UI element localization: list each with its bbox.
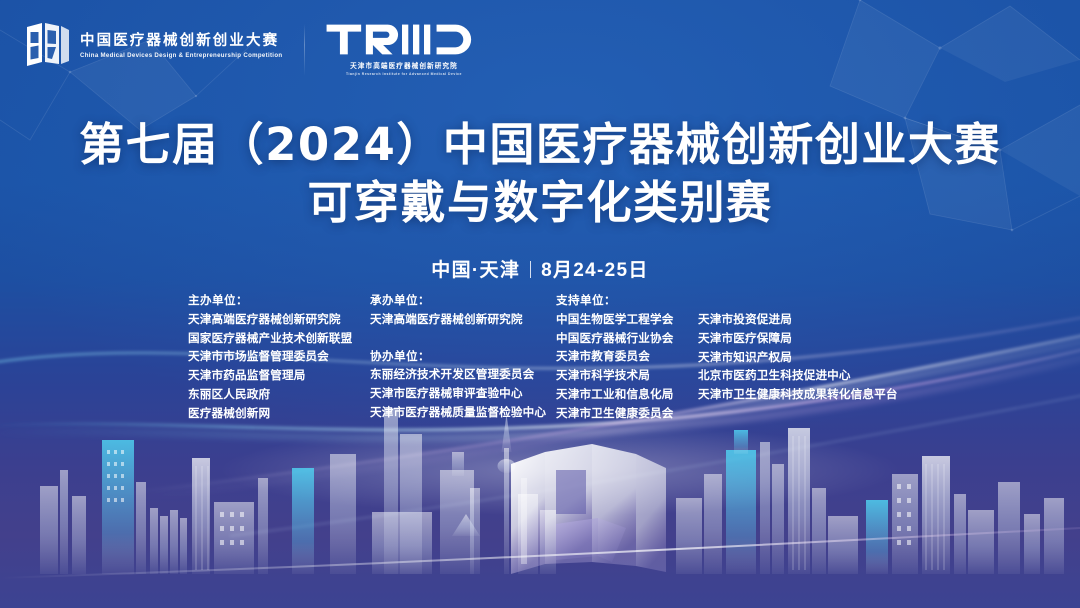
organizer-item: 天津高端医疗器械创新研究院 (188, 311, 370, 330)
header-logos: 中国医疗器械创新创业大赛 China Medical Devices Desig… (24, 22, 483, 76)
supporter-subcolumn-right: 天津市投资促进局 天津市医疗保障局 天津市知识产权局 北京市医药卫生科技促进中心… (698, 292, 898, 423)
competition-logo-en: China Medical Devices Design & Entrepren… (80, 52, 282, 59)
coorganizer-heading: 协办单位： (370, 348, 556, 367)
undertaker-heading: 承办单位： (370, 292, 556, 311)
supporter-item: 天津市科学技术局 (556, 367, 686, 386)
subtitle-separator (530, 261, 531, 278)
organizer-item: 医疗器械创新网 (188, 405, 370, 424)
competition-logo-cn: 中国医疗器械创新创业大赛 (80, 33, 282, 50)
column-spacer (370, 330, 556, 348)
competition-logo: 中国医疗器械创新创业大赛 China Medical Devices Desig… (24, 22, 282, 67)
poster-subtitle: 中国·天津8月24-25日 (0, 255, 1080, 282)
supporter-heading: 支持单位： (556, 292, 686, 311)
supporter-item: 北京市医药卫生科技促进中心 (698, 367, 898, 386)
trimd-logo-en: Tianjin Research Institute for Advanced … (346, 72, 462, 76)
organizer-item: 东丽区人民政府 (188, 386, 370, 405)
trimd-logo-cn: 天津市高端医疗器械创新研究院 (350, 60, 458, 70)
supporter-item: 中国医疗器械行业协会 (556, 330, 686, 349)
supporter-item: 天津市卫生健康科技成果转化信息平台 (698, 386, 898, 405)
supporter-item: 天津市投资促进局 (698, 311, 898, 330)
title-line-2: 可穿戴与数字化类别赛 (0, 173, 1080, 233)
undertaker-column: 承办单位： 天津高端医疗器械创新研究院 协办单位： 东丽经济技术开发区管理委员会… (370, 292, 556, 423)
subtitle-location: 中国·天津 (431, 260, 520, 281)
column-spacer (698, 292, 898, 311)
organizer-column: 主办单位： 天津高端医疗器械创新研究院 国家医疗器械产业技术创新联盟 天津市市场… (188, 292, 370, 423)
coorganizer-item: 天津市医疗器械审评查验中心 (370, 385, 556, 404)
undertaker-item: 天津高端医疗器械创新研究院 (370, 311, 556, 330)
supporter-item: 天津市知识产权局 (698, 349, 898, 368)
organizations-block: 主办单位： 天津高端医疗器械创新研究院 国家医疗器械产业技术创新联盟 天津市市场… (188, 292, 984, 423)
supporter-column: 支持单位： 中国生物医学工程学会 中国医疗器械行业协会 天津市教育委员会 天津市… (556, 292, 898, 423)
supporter-subcolumn-left: 支持单位： 中国生物医学工程学会 中国医疗器械行业协会 天津市教育委员会 天津市… (556, 292, 686, 423)
organizer-heading: 主办单位： (188, 292, 370, 311)
supporter-item: 天津市医疗保障局 (698, 330, 898, 349)
supporter-item: 天津市卫生健康委员会 (556, 405, 686, 424)
coorganizer-item: 天津市医疗器械质量监督检验中心 (370, 404, 556, 423)
coorganizer-item: 东丽经济技术开发区管理委员会 (370, 366, 556, 385)
title-line-1: 第七届（2024）中国医疗器械创新创业大赛 (0, 118, 1080, 173)
organizer-item: 天津市市场监督管理委员会 (188, 348, 370, 367)
poster-canvas: 中国医疗器械创新创业大赛 China Medical Devices Desig… (0, 0, 1080, 608)
trimd-wordmark-icon (325, 23, 482, 56)
supporter-item: 天津市教育委员会 (556, 348, 686, 367)
poster-title: 第七届（2024）中国医疗器械创新创业大赛 可穿戴与数字化类别赛 (0, 118, 1080, 233)
supporter-item: 中国生物医学工程学会 (556, 311, 686, 330)
organizer-item: 国家医疗器械产业技术创新联盟 (188, 330, 370, 349)
open-door-window-logo-icon (24, 22, 71, 67)
organizer-item: 天津市药品监督管理局 (188, 367, 370, 386)
trimd-logo: 天津市高端医疗器械创新研究院 Tianjin Research Institut… (325, 22, 482, 76)
logo-divider (304, 24, 305, 76)
subtitle-date: 8月24-25日 (541, 260, 649, 281)
supporter-item: 天津市工业和信息化局 (556, 386, 686, 405)
